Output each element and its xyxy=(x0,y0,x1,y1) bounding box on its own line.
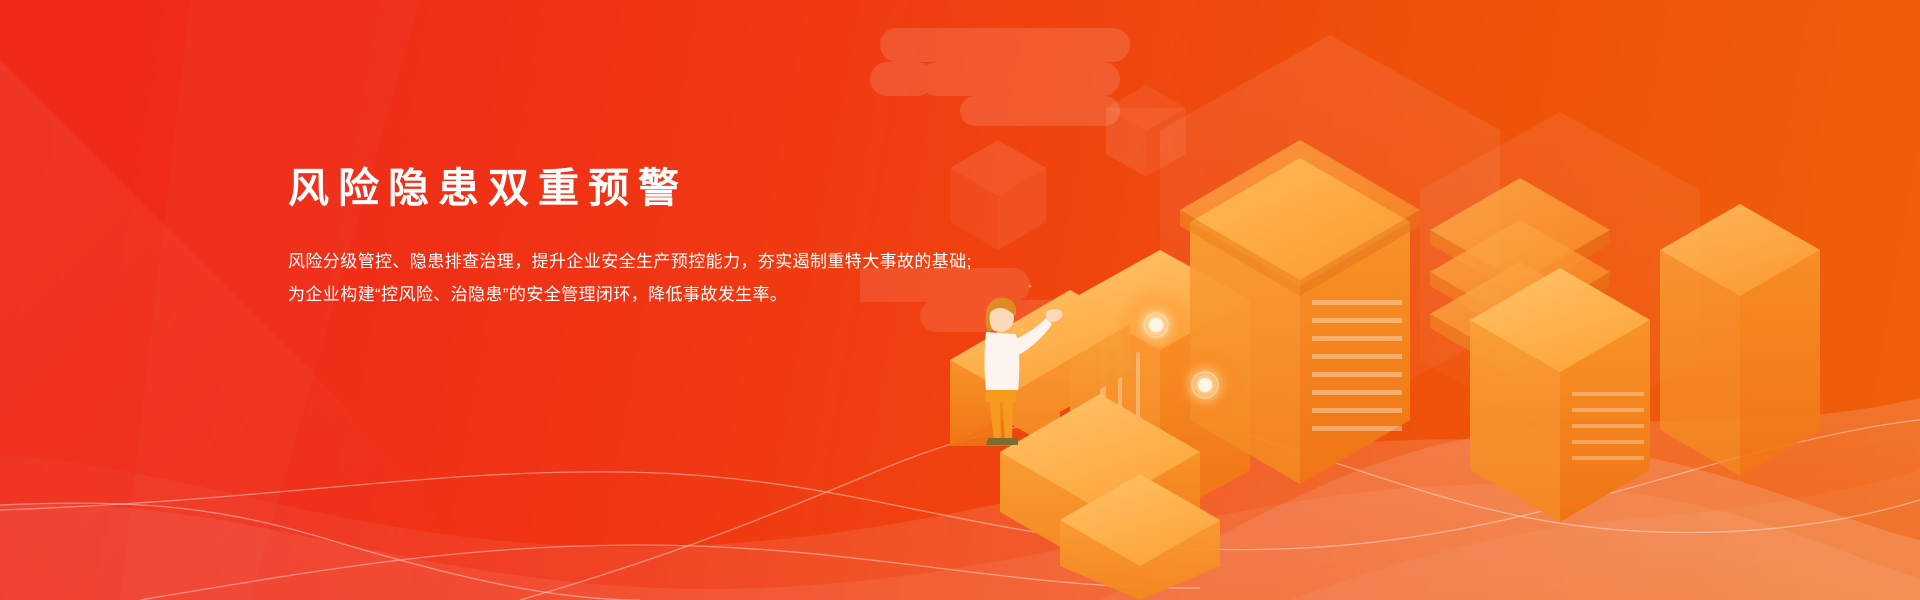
page-title: 风险隐患双重预警 xyxy=(288,168,988,209)
tower-right xyxy=(1470,268,1650,522)
subtitle-line-2: 为企业构建“控风险、治隐患”的安全管理闭环，降低事故发生率。 xyxy=(288,278,988,311)
banner-copy: 风险隐患双重预警 风险分级管控、隐患排查治理，提升企业安全生产预控能力，夯实遏制… xyxy=(288,168,988,311)
tower-far-right xyxy=(1660,204,1820,476)
banner-subtitle: 风险分级管控、隐患排查治理，提升企业安全生产预控能力，夯实遏制重特大事故的基础;… xyxy=(288,209,988,311)
isometric-city-illustration xyxy=(860,0,1920,600)
subtitle-line-1: 风险分级管控、隐患排查治理，提升企业安全生产预控能力，夯实遏制重特大事故的基础; xyxy=(288,245,988,278)
promo-banner: 风险隐患双重预警 风险分级管控、隐患排查治理，提升企业安全生产预控能力，夯实遏制… xyxy=(0,0,1920,600)
cloud-shape xyxy=(870,28,1130,126)
tower-center xyxy=(1180,140,1420,484)
